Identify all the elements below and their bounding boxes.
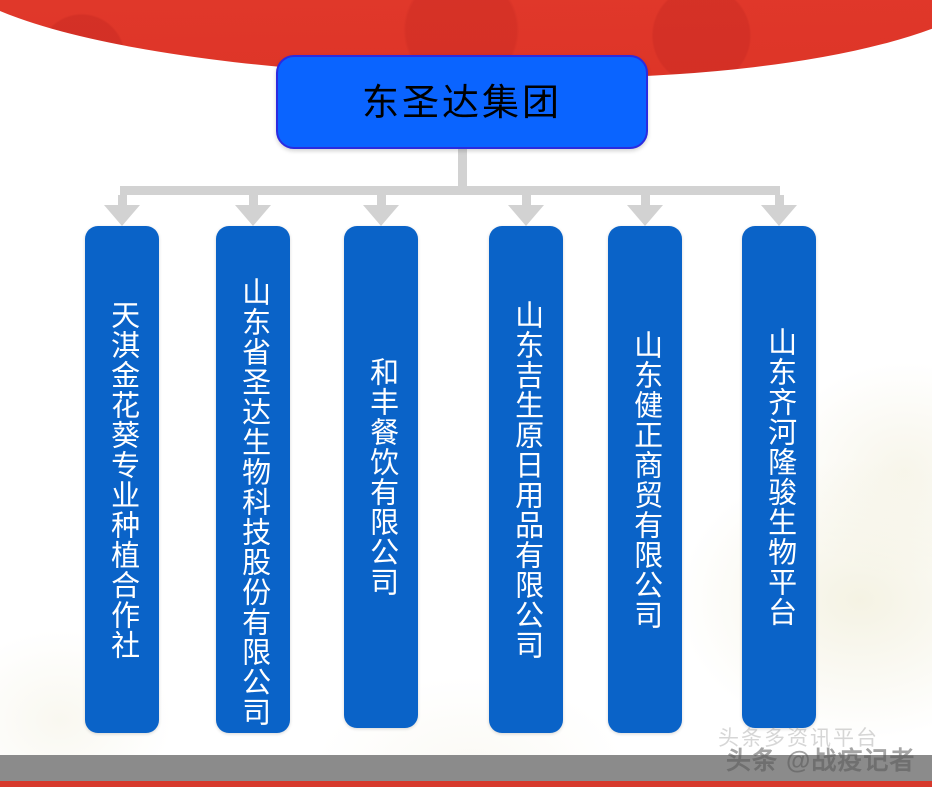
bottom-gray-bar xyxy=(0,755,932,781)
org-child-label-1: 天淇金花葵专业种植合作社 xyxy=(101,226,142,733)
connector-arrow-5 xyxy=(627,205,663,226)
connector-horizontal-bar xyxy=(120,186,780,195)
connector-drop-1 xyxy=(118,195,127,213)
connector-arrow-6 xyxy=(761,205,797,226)
connector-arrow-3 xyxy=(363,205,399,226)
org-child-node-1[interactable]: 天淇金花葵专业种植合作社 xyxy=(85,226,159,733)
connector-arrow-1 xyxy=(104,205,140,226)
org-child-node-6[interactable]: 山东齐河隆骏生物平台 xyxy=(742,226,816,728)
connector-drop-3 xyxy=(377,195,386,213)
org-child-node-5[interactable]: 山东健正商贸有限公司 xyxy=(608,226,682,733)
connector-drop-6 xyxy=(775,195,784,213)
connector-drop-2 xyxy=(249,195,258,213)
slide-canvas: 东圣达集团 天淇金花葵专业种植合作社山东省圣达生物科技股份有限公司和丰餐饮有限公… xyxy=(0,0,932,787)
org-child-label-2: 山东省圣达生物科技股份有限公司 xyxy=(232,226,273,755)
org-child-node-2[interactable]: 山东省圣达生物科技股份有限公司 xyxy=(216,226,290,733)
org-child-node-4[interactable]: 山东吉生原日用品有限公司 xyxy=(489,226,563,733)
org-root-node[interactable]: 东圣达集团 xyxy=(276,55,648,149)
org-child-label-4: 山东吉生原日用品有限公司 xyxy=(505,226,546,733)
connector-arrow-4 xyxy=(508,205,544,226)
connector-root-stem xyxy=(458,149,467,187)
org-root-label: 东圣达集团 xyxy=(362,84,562,121)
connector-drop-4 xyxy=(522,195,531,213)
org-child-label-6: 山东齐河隆骏生物平台 xyxy=(758,226,799,728)
org-child-node-3[interactable]: 和丰餐饮有限公司 xyxy=(344,226,418,728)
bottom-red-accent-bar xyxy=(0,781,932,787)
connector-arrow-2 xyxy=(235,205,271,226)
org-child-label-5: 山东健正商贸有限公司 xyxy=(624,226,665,733)
org-child-label-3: 和丰餐饮有限公司 xyxy=(360,226,401,728)
connector-drop-5 xyxy=(641,195,650,213)
